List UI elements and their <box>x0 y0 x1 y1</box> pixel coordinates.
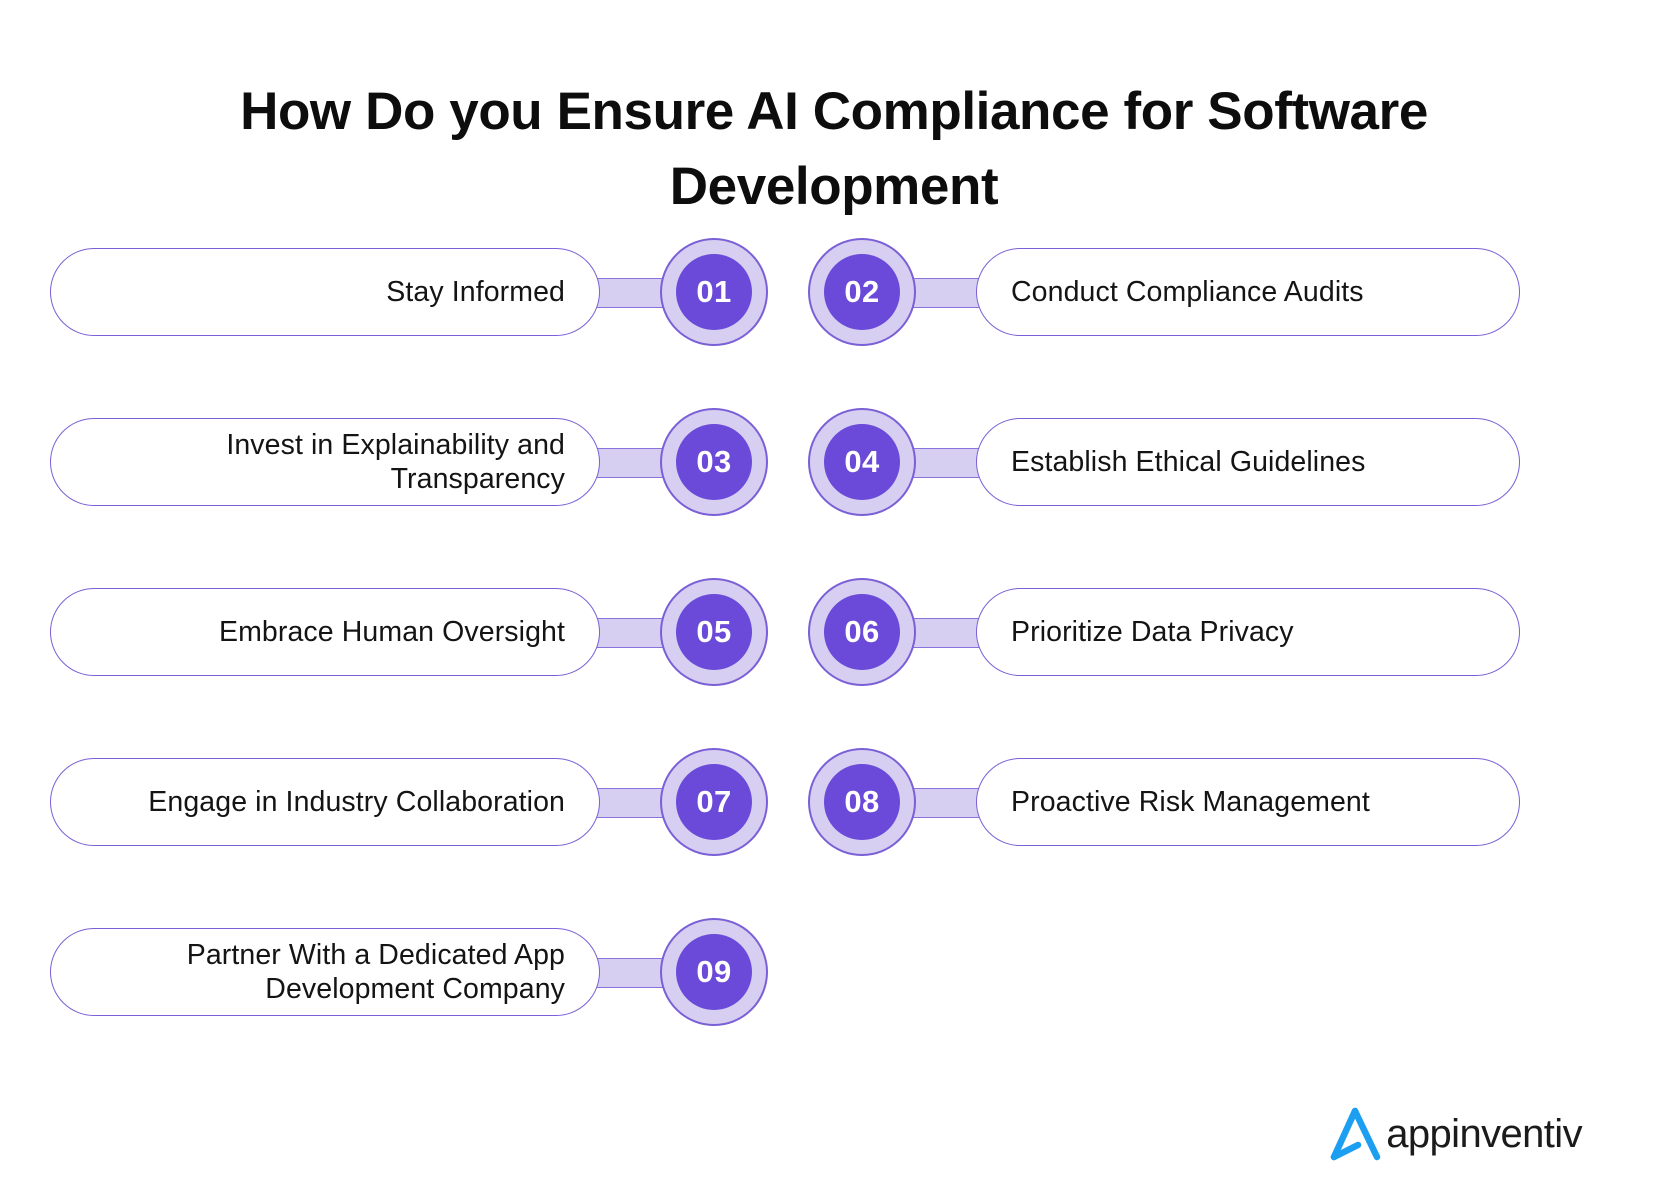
step-number: 03 <box>696 444 731 480</box>
step-item-05[interactable]: Embrace Human Oversight 05 <box>50 576 768 686</box>
step-badge-inner: 05 <box>676 594 752 670</box>
step-label: Invest in Explainability and Transparenc… <box>85 428 565 496</box>
step-badge-inner: 08 <box>824 764 900 840</box>
step-badge[interactable]: 09 <box>660 918 768 1026</box>
step-item-07[interactable]: Engage in Industry Collaboration 07 <box>50 746 768 856</box>
step-pill[interactable]: Proactive Risk Management <box>976 758 1520 846</box>
step-badge[interactable]: 08 <box>808 748 916 856</box>
step-item-04[interactable]: Establish Ethical Guidelines 04 <box>808 406 1520 516</box>
brand-wordmark: appinventiv <box>1386 1112 1582 1157</box>
step-label: Prioritize Data Privacy <box>1011 615 1294 649</box>
step-badge-inner: 01 <box>676 254 752 330</box>
step-pill[interactable]: Embrace Human Oversight <box>50 588 600 676</box>
step-number: 09 <box>696 954 731 990</box>
step-badge[interactable]: 03 <box>660 408 768 516</box>
step-pill[interactable]: Partner With a Dedicated App Development… <box>50 928 600 1016</box>
step-number: 07 <box>696 784 731 820</box>
step-pill[interactable]: Establish Ethical Guidelines <box>976 418 1520 506</box>
step-label: Stay Informed <box>386 275 565 309</box>
step-label: Proactive Risk Management <box>1011 785 1370 819</box>
step-label: Conduct Compliance Audits <box>1011 275 1364 309</box>
step-badge-inner: 07 <box>676 764 752 840</box>
step-badge[interactable]: 05 <box>660 578 768 686</box>
step-badge-inner: 02 <box>824 254 900 330</box>
step-label: Embrace Human Oversight <box>219 615 565 649</box>
steps-board: Stay Informed 01 Conduct Compliance Audi… <box>0 236 1668 1056</box>
step-badge-inner: 06 <box>824 594 900 670</box>
page-title: How Do you Ensure AI Compliance for Soft… <box>104 74 1564 225</box>
step-number: 08 <box>844 784 879 820</box>
step-item-09[interactable]: Partner With a Dedicated App Development… <box>50 916 768 1026</box>
step-number: 01 <box>696 274 731 310</box>
step-badge[interactable]: 04 <box>808 408 916 516</box>
step-item-03[interactable]: Invest in Explainability and Transparenc… <box>50 406 768 516</box>
step-badge-inner: 03 <box>676 424 752 500</box>
step-badge[interactable]: 06 <box>808 578 916 686</box>
step-pill[interactable]: Engage in Industry Collaboration <box>50 758 600 846</box>
step-number: 04 <box>844 444 879 480</box>
step-label: Establish Ethical Guidelines <box>1011 445 1366 479</box>
appinventiv-arrow-mark <box>1327 1107 1383 1161</box>
step-number: 06 <box>844 614 879 650</box>
step-pill[interactable]: Prioritize Data Privacy <box>976 588 1520 676</box>
step-number: 02 <box>844 274 879 310</box>
step-badge[interactable]: 07 <box>660 748 768 856</box>
step-item-02[interactable]: Conduct Compliance Audits 02 <box>808 236 1520 346</box>
step-badge-inner: 09 <box>676 934 752 1010</box>
step-badge[interactable]: 01 <box>660 238 768 346</box>
step-item-08[interactable]: Proactive Risk Management 08 <box>808 746 1520 856</box>
step-badge[interactable]: 02 <box>808 238 916 346</box>
step-badge-inner: 04 <box>824 424 900 500</box>
step-label: Partner With a Dedicated App Development… <box>85 938 565 1006</box>
step-item-06[interactable]: Prioritize Data Privacy 06 <box>808 576 1520 686</box>
step-label: Engage in Industry Collaboration <box>148 785 565 819</box>
step-pill[interactable]: Stay Informed <box>50 248 600 336</box>
step-item-01[interactable]: Stay Informed 01 <box>50 236 768 346</box>
step-number: 05 <box>696 614 731 650</box>
step-pill[interactable]: Conduct Compliance Audits <box>976 248 1520 336</box>
step-pill[interactable]: Invest in Explainability and Transparenc… <box>50 418 600 506</box>
brand-logo[interactable]: appinventiv <box>1327 1107 1582 1161</box>
